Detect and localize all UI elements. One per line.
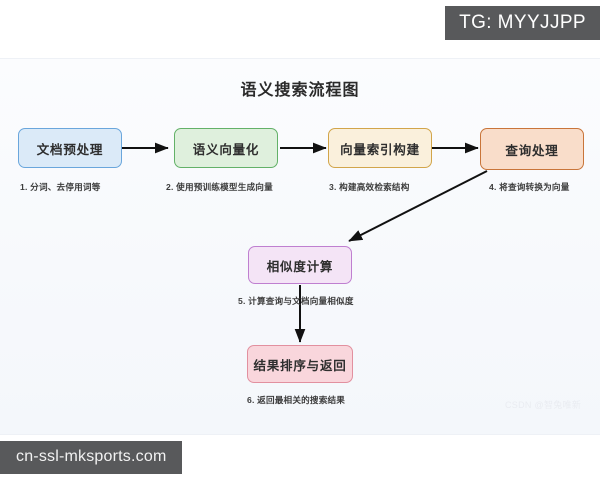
node-vector-index-build[interactable]: 向量索引构建: [328, 128, 432, 168]
node-query-processing[interactable]: 查询处理: [480, 128, 584, 170]
node-label: 向量索引构建: [340, 139, 420, 158]
node-label: 查询处理: [505, 140, 558, 159]
caption-step-1: 1. 分词、去停用词等: [20, 181, 101, 193]
node-similarity-computation[interactable]: 相似度计算: [248, 246, 352, 284]
node-document-preprocessing[interactable]: 文档预处理: [18, 128, 122, 168]
telegram-banner: TG: MYYJJPP: [445, 6, 600, 40]
node-label: 结果排序与返回: [253, 355, 346, 374]
csdn-watermark: CSDN @智兔唯新: [505, 398, 581, 411]
site-url-banner: cn-ssl-mksports.com: [0, 441, 182, 474]
caption-step-2: 2. 使用预训练模型生成向量: [166, 181, 273, 193]
node-semantic-vectorization[interactable]: 语义向量化: [174, 128, 278, 168]
caption-step-5: 5. 计算查询与文档向量相似度: [238, 295, 354, 307]
node-label: 文档预处理: [37, 139, 104, 158]
node-label: 相似度计算: [267, 256, 334, 275]
caption-step-4: 4. 将查询转换为向量: [489, 181, 570, 193]
node-result-ranking-return[interactable]: 结果排序与返回: [247, 345, 353, 383]
diagram-title: 语义搜索流程图: [0, 76, 600, 100]
screenshot-root: 语义搜索流程图 文档预处理 1. 分词、去停用词等 语义向量化 2. 使用预训练…: [0, 0, 600, 480]
node-label: 语义向量化: [193, 139, 260, 158]
caption-step-6: 6. 返回最相关的搜索结果: [247, 394, 345, 406]
caption-step-3: 3. 构建高效检索结构: [329, 181, 410, 193]
